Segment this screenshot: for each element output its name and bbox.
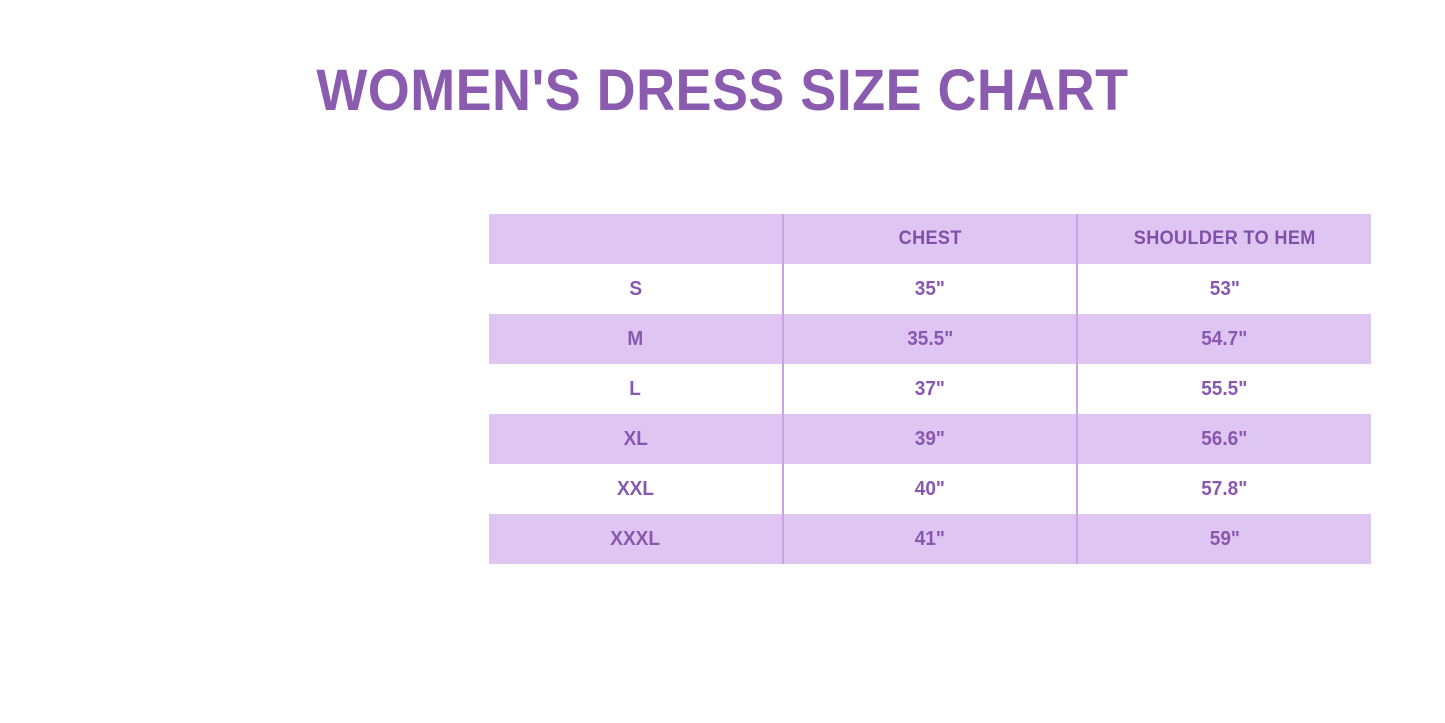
chest-value: 41" (915, 514, 945, 564)
shoulder-to-hem-value: 57.8" (1201, 464, 1247, 514)
table-header: CHEST SHOULDER TO HEM (489, 214, 1371, 264)
column-header-chest: CHEST (783, 214, 1077, 264)
cell-chest: 35" (783, 264, 1077, 314)
shoulder-to-hem-value: 59" (1209, 514, 1239, 564)
cell-chest: 35.5" (783, 314, 1077, 364)
column-header-size (489, 214, 783, 264)
shoulder-to-hem-value: 54.7" (1201, 314, 1247, 364)
cell-chest: 41" (783, 514, 1077, 564)
column-header-shoulder-to-hem-label: SHOULDER TO HEM (1134, 214, 1316, 264)
cell-shoulder-to-hem: 57.8" (1077, 464, 1371, 514)
cell-shoulder-to-hem: 55.5" (1077, 364, 1371, 414)
cell-chest: 37" (783, 364, 1077, 414)
cell-shoulder-to-hem: 54.7" (1077, 314, 1371, 364)
table-body: S 35" 53" M 35.5" (489, 264, 1371, 564)
table-row: XXXL 41" 59" (489, 514, 1371, 564)
table-row: XL 39" 56.6" (489, 414, 1371, 464)
cell-size: S (489, 264, 783, 314)
size-label: M (628, 314, 644, 364)
cell-size: M (489, 314, 783, 364)
cell-size: XL (489, 414, 783, 464)
size-table-container: CHEST SHOULDER TO HEM S 35" 53" (489, 214, 1371, 566)
chest-value: 35" (915, 264, 945, 314)
table-row: L 37" 55.5" (489, 364, 1371, 414)
table-row: S 35" 53" (489, 264, 1371, 314)
size-label: S (629, 264, 642, 314)
size-chart-page: WOMEN'S DRESS SIZE CHART CHEST SHOULDER … (0, 0, 1445, 723)
shoulder-to-hem-value: 55.5" (1201, 364, 1247, 414)
cell-shoulder-to-hem: 56.6" (1077, 414, 1371, 464)
column-header-shoulder-to-hem: SHOULDER TO HEM (1077, 214, 1371, 264)
cell-chest: 40" (783, 464, 1077, 514)
cell-size: XXL (489, 464, 783, 514)
size-chart-table: CHEST SHOULDER TO HEM S 35" 53" (489, 214, 1371, 564)
shoulder-to-hem-value: 53" (1209, 264, 1239, 314)
page-title: WOMEN'S DRESS SIZE CHART (51, 57, 1395, 125)
table-row: M 35.5" 54.7" (489, 314, 1371, 364)
chest-value: 37" (915, 364, 945, 414)
chest-value: 40" (915, 464, 945, 514)
chest-value: 39" (915, 414, 945, 464)
cell-shoulder-to-hem: 53" (1077, 264, 1371, 314)
cell-size: L (489, 364, 783, 414)
chest-value: 35.5" (907, 314, 953, 364)
cell-shoulder-to-hem: 59" (1077, 514, 1371, 564)
size-label: XXL (617, 464, 654, 514)
size-label: XXXL (611, 514, 661, 564)
size-label: XL (623, 414, 647, 464)
table-row: XXL 40" 57.8" (489, 464, 1371, 514)
cell-size: XXXL (489, 514, 783, 564)
shoulder-to-hem-value: 56.6" (1201, 414, 1247, 464)
table-header-row: CHEST SHOULDER TO HEM (489, 214, 1371, 264)
size-label: L (630, 364, 642, 414)
column-header-chest-label: CHEST (898, 214, 961, 264)
cell-chest: 39" (783, 414, 1077, 464)
